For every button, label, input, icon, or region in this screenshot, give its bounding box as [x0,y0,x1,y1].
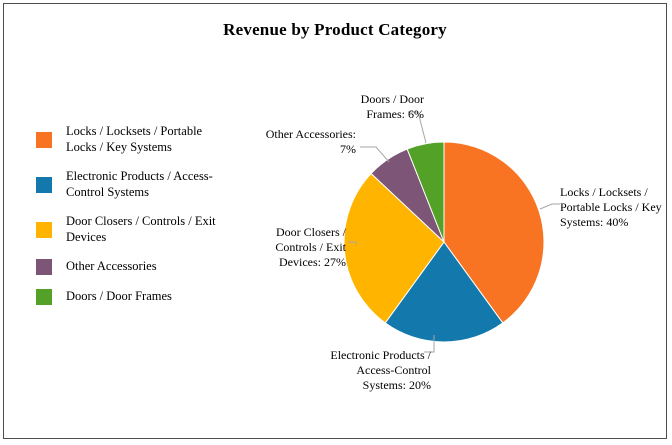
legend-item-electronic-products[interactable]: Electronic Products / Access-Control Sys… [36,169,226,200]
legend-item-label: Electronic Products / Access-Control Sys… [66,169,216,200]
pie-label-other-accessories: Other Accessories: 7% [244,127,356,157]
pie-label-locks: Locks / Locksets / Portable Locks / Key … [560,185,672,230]
legend-swatch-icon [36,177,52,193]
pie-slices-group [344,142,544,342]
leader-line-locks [540,204,560,209]
leader-line-closers [348,242,356,245]
legend-item-label: Door Closers / Controls / Exit Devices [66,214,216,245]
legend-item-other-accessories[interactable]: Other Accessories [36,259,226,275]
legend-item-door-closers[interactable]: Door Closers / Controls / Exit Devices [36,214,226,245]
legend-item-doors-door-frames[interactable]: Doors / Door Frames [36,289,226,305]
leader-line-other [360,147,389,162]
legend-swatch-icon [36,259,52,275]
pie-slice[interactable] [344,174,444,323]
legend-swatch-icon [36,222,52,238]
pie-label-electronic-products: Electronic Products / Access-Control Sys… [296,348,431,393]
leader-lines-group [348,112,560,352]
legend-item-label: Other Accessories [66,259,157,275]
chart-legend: Locks / Locksets / Portable Locks / Key … [36,124,226,319]
legend-item-label: Locks / Locksets / Portable Locks / Key … [66,124,216,155]
leader-line-elect [424,335,434,352]
leader-line-doors [408,112,426,143]
pie-slice[interactable] [444,142,544,323]
pie-label-doors-door-frames: Doors / Door Frames: 6% [316,92,424,122]
legend-item-locks[interactable]: Locks / Locksets / Portable Locks / Key … [36,124,226,155]
pie-slice[interactable] [385,242,503,342]
chart-frame: Revenue by Product Category Locks / Lock… [3,3,667,439]
pie-slice[interactable] [407,142,444,242]
legend-swatch-icon [36,289,52,305]
pie-label-door-closers: Door Closers / Controls / Exit Devices: … [226,225,346,270]
pie-slice[interactable] [371,149,444,242]
legend-swatch-icon [36,132,52,148]
legend-item-label: Doors / Door Frames [66,289,172,305]
chart-title: Revenue by Product Category [4,20,666,40]
